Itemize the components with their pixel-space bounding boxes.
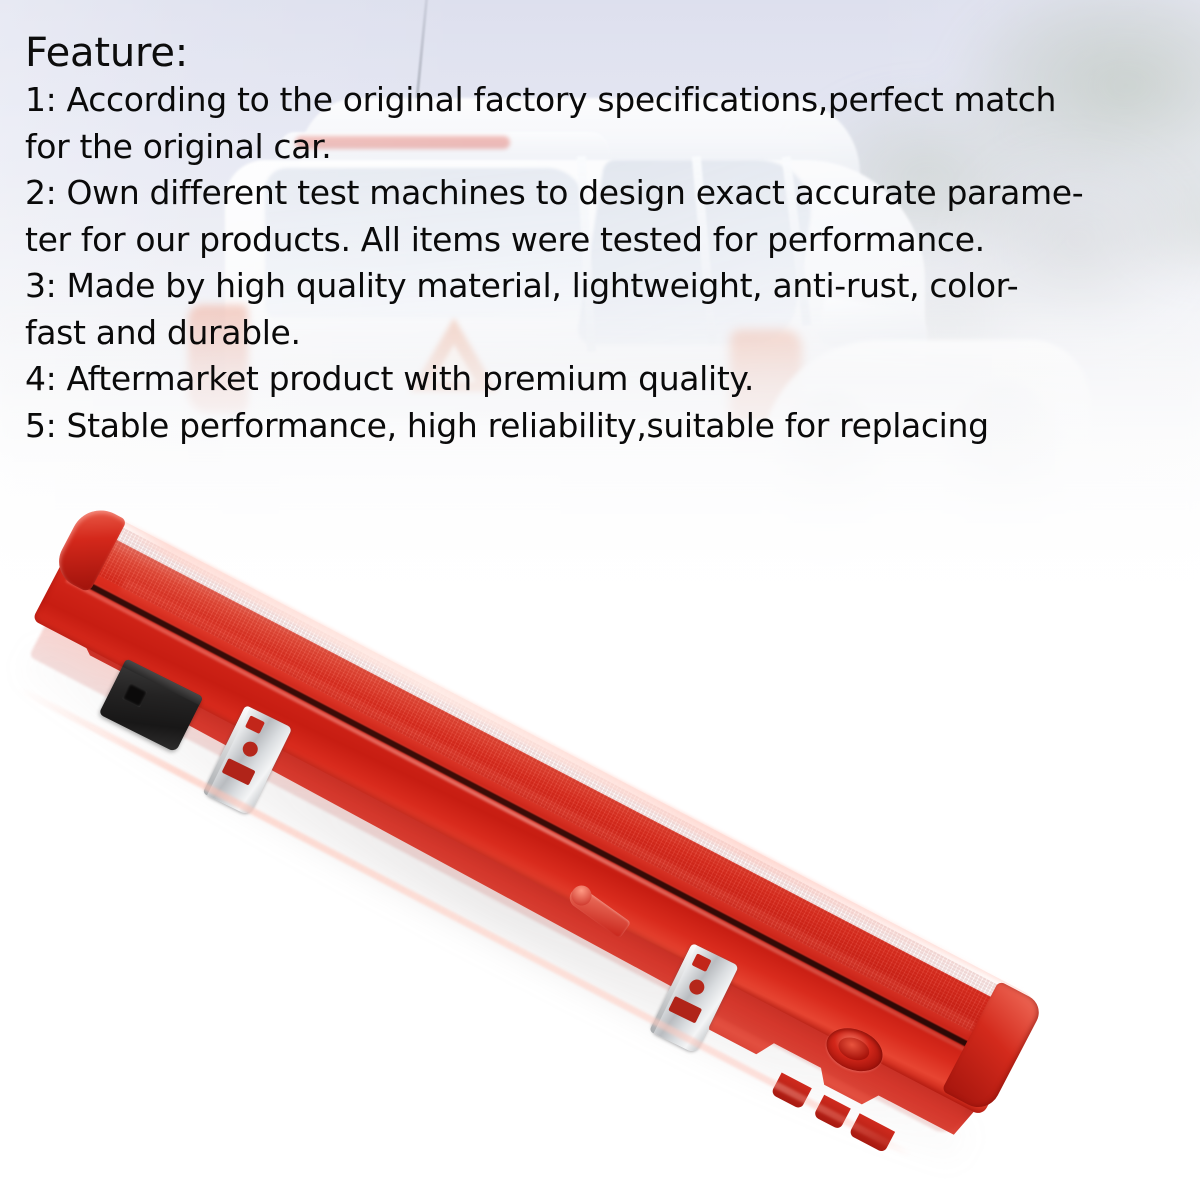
clip-slot <box>668 996 702 1024</box>
lamp-seam-highlight <box>65 578 1003 1071</box>
feature-line-1: 1: According to the original factory spe… <box>25 77 1185 124</box>
clip-notch <box>692 953 712 972</box>
clip-slot <box>222 758 256 786</box>
lamp-seam-dark <box>66 571 1008 1067</box>
clip-hole <box>240 739 260 759</box>
feature-text-block: Feature: 1: According to the original fa… <box>25 30 1185 449</box>
feature-line-2: 2: Own different test machines to design… <box>25 170 1185 217</box>
feature-line-2-cont: ter for our products. All items were tes… <box>25 217 1185 264</box>
feature-heading: Feature: <box>25 30 1185 77</box>
feature-line-4: 4: Aftermarket product with premium qual… <box>25 356 1185 403</box>
third-brake-light <box>0 500 1054 1200</box>
feature-line-1-cont: for the original car. <box>25 124 1185 171</box>
product-listing-canvas: Feature: 1: According to the original fa… <box>0 0 1200 1200</box>
connector-socket-slot <box>122 683 148 708</box>
feature-line-5: 5: Stable performance, high reliability,… <box>25 403 1185 450</box>
bulb-socket-inner <box>835 1033 872 1064</box>
feature-line-3-cont: fast and durable. <box>25 310 1185 357</box>
clip-notch <box>245 715 265 734</box>
feature-line-3: 3: Made by high quality material, lightw… <box>25 263 1185 310</box>
clip-hole <box>687 977 707 997</box>
